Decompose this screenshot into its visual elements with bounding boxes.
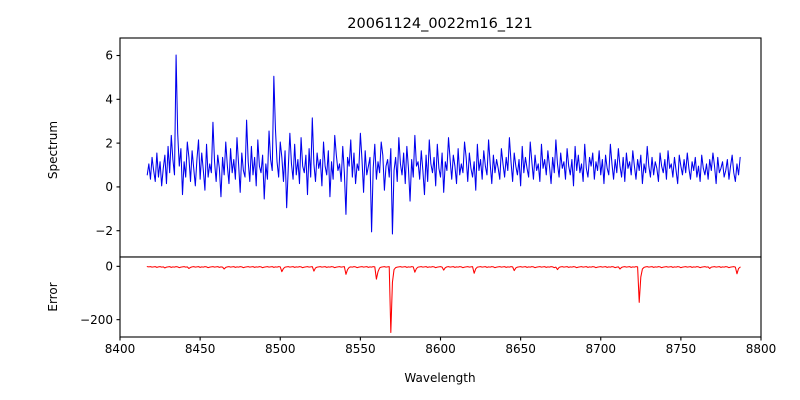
x-tick-label: 8450 [185,342,216,356]
error-y-ticks: 0−200 [80,260,120,327]
figure-title: 20061124_0022m16_121 [347,16,532,32]
x-tick-label: 8550 [345,342,376,356]
spectrum-y-tick-label: 0 [105,180,113,194]
spectrum-plot-area [120,38,761,257]
spectrum-y-ticks: −20246 [95,49,120,238]
spectrum-y-tick-label: 4 [105,93,113,107]
x-tick-label: 8800 [746,342,777,356]
spectrum-y-tick-label: 6 [105,49,113,63]
x-axis-label: Wavelength [404,371,475,385]
matplotlib-figure: 20061124_0022m16_121 −20246 Spectrum 0−2… [0,0,800,400]
x-tick-label: 8750 [666,342,697,356]
spectrum-y-tick-label: −2 [95,224,113,238]
x-tick-label: 8400 [105,342,136,356]
error-panel: 0−200 8400845085008550860086508700875088… [46,257,776,385]
x-tick-label: 8700 [585,342,616,356]
spectrum-panel: −20246 Spectrum [46,38,761,257]
figure-canvas: 20061124_0022m16_121 −20246 Spectrum 0−2… [0,0,800,400]
error-y-tick-label: −200 [80,313,113,327]
spectrum-y-axis-label: Spectrum [46,121,60,179]
error-plot-area [120,257,761,337]
error-x-ticks: 840084508500855086008650870087508800 [105,337,777,356]
error-y-axis-label: Error [46,282,60,311]
x-tick-label: 8600 [425,342,456,356]
spectrum-y-tick-label: 2 [105,136,113,150]
x-tick-label: 8500 [265,342,296,356]
error-y-tick-label: 0 [105,260,113,274]
x-tick-label: 8650 [505,342,536,356]
